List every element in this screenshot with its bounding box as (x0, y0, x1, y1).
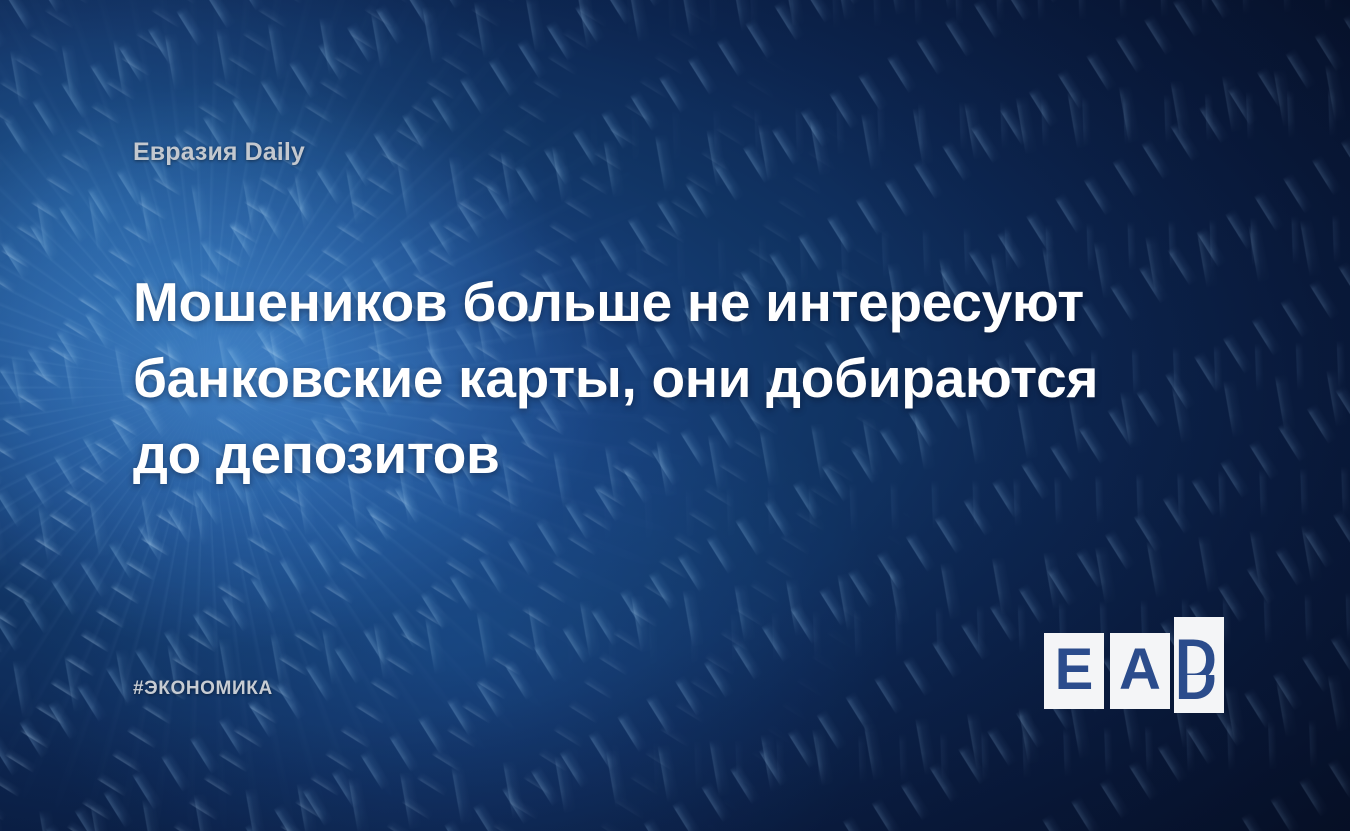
eadaily-logo: E A D D (1044, 617, 1224, 715)
logo-letter-a: A (1119, 641, 1161, 699)
brand-name: Евразия Daily (133, 138, 305, 167)
logo-tile-d-upper: D (1174, 617, 1224, 675)
category-hashtag: #ЭКОНОМИКА (133, 678, 273, 700)
headline: Мошеников больше не интересуют банковски… (133, 264, 1123, 492)
logo-letter-d-upper: D (1175, 632, 1217, 675)
news-card: Евразия Daily Мошеников больше не интере… (0, 0, 1350, 831)
logo-letter-d-lower: D (1175, 675, 1217, 709)
logo-tile-d-lower: D (1174, 675, 1224, 713)
logo-tile-e: E (1044, 633, 1104, 709)
logo-tile-a: A (1110, 633, 1170, 709)
logo-letter-e: E (1055, 641, 1094, 699)
card-content: Евразия Daily Мошеников больше не интере… (0, 0, 1350, 831)
